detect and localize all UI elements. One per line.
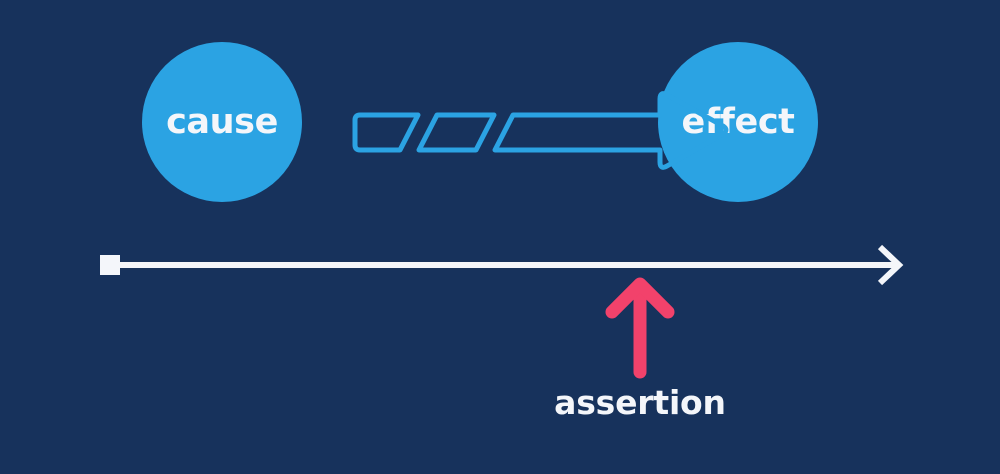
time-axis-start-marker (100, 255, 120, 275)
causal-arrow-head-segment (495, 94, 726, 168)
time-axis[interactable] (100, 247, 900, 283)
assertion-marker-arrow[interactable] (612, 284, 668, 372)
causal-arrow-segment-1 (355, 115, 418, 150)
diagram-canvas: cause effect assertion (0, 0, 1000, 474)
assertion-label-wrap: assertion (0, 383, 1000, 422)
segmented-causal-arrow[interactable] (355, 94, 726, 168)
causal-arrow-segment-2 (419, 115, 494, 150)
assertion-label: assertion (554, 383, 726, 422)
